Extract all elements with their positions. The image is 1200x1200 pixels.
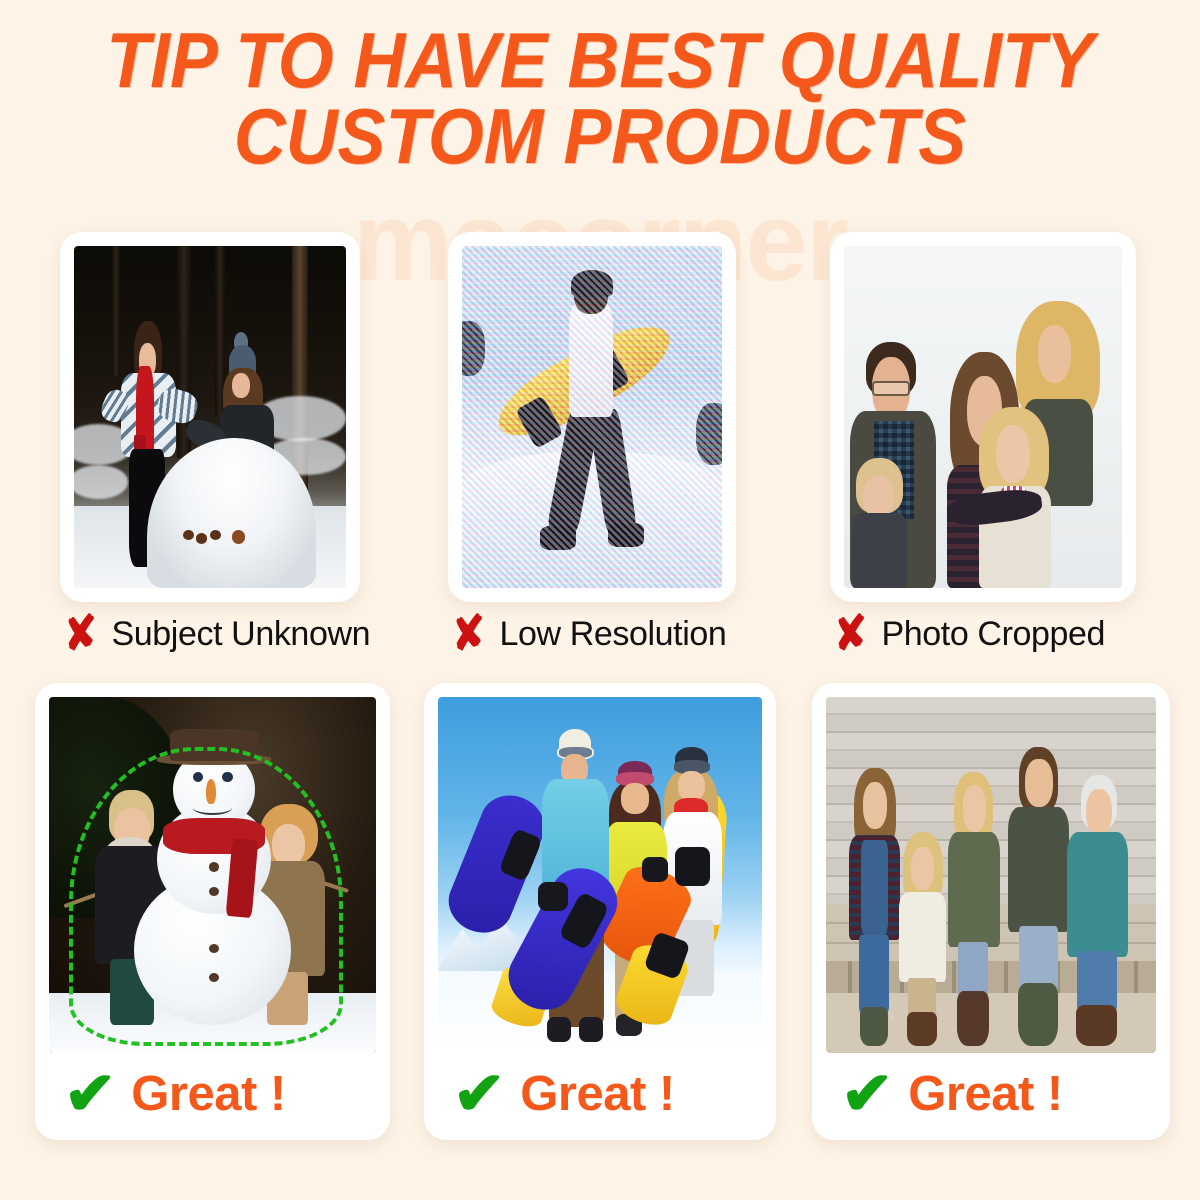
example-subject-unknown: ✘ Subject Unknown bbox=[60, 232, 370, 654]
photo-subject-unknown bbox=[74, 246, 346, 588]
great-row: ✔ Great ! bbox=[826, 1053, 1156, 1134]
caption-label: Subject Unknown bbox=[112, 615, 371, 654]
check-mark-icon: ✔ bbox=[841, 1070, 894, 1118]
check-mark-icon: ✔ bbox=[453, 1070, 506, 1118]
example-great-family: ✔ Great ! bbox=[812, 683, 1170, 1140]
great-label: Great ! bbox=[908, 1066, 1062, 1122]
caption-subject-unknown: ✘ Subject Unknown bbox=[60, 614, 370, 654]
caption-label: Low Resolution bbox=[500, 615, 727, 654]
card-low-resolution[interactable] bbox=[448, 232, 736, 602]
example-great-snowman: ✔ Great ! bbox=[35, 683, 390, 1140]
check-mark-icon: ✔ bbox=[64, 1070, 117, 1118]
photo-snowman-outlined bbox=[49, 697, 376, 1053]
great-row: ✔ Great ! bbox=[438, 1053, 762, 1134]
photo-snowboarders bbox=[438, 697, 762, 1053]
card-great-snowman[interactable]: ✔ Great ! bbox=[35, 683, 390, 1140]
page-title-line-1: TIP TO HAVE BEST QUALITY bbox=[106, 16, 1093, 104]
caption-low-resolution: ✘ Low Resolution bbox=[448, 614, 748, 654]
great-label: Great ! bbox=[520, 1066, 674, 1122]
x-mark-icon: ✘ bbox=[61, 609, 101, 658]
example-great-snowboarders: ✔ Great ! bbox=[424, 683, 776, 1140]
caption-label: Photo Cropped bbox=[882, 615, 1106, 654]
caption-photo-cropped: ✘ Photo Cropped bbox=[830, 614, 1136, 654]
example-low-resolution: ✘ Low Resolution bbox=[448, 232, 748, 654]
card-photo-cropped[interactable] bbox=[830, 232, 1136, 602]
x-mark-icon: ✘ bbox=[831, 609, 871, 658]
photo-low-resolution bbox=[462, 246, 722, 588]
card-subject-unknown[interactable] bbox=[60, 232, 360, 602]
card-great-snowboarders[interactable]: ✔ Great ! bbox=[424, 683, 776, 1140]
great-label: Great ! bbox=[131, 1066, 285, 1122]
x-mark-icon: ✘ bbox=[449, 609, 489, 658]
page-title-line-2: CUSTOM PRODUCTS bbox=[48, 98, 1152, 174]
photo-cropped bbox=[844, 246, 1122, 588]
example-photo-cropped: ✘ Photo Cropped bbox=[830, 232, 1136, 654]
examples-grid: ✘ Subject Unknown bbox=[0, 225, 1200, 1185]
great-row: ✔ Great ! bbox=[49, 1053, 376, 1134]
card-great-family[interactable]: ✔ Great ! bbox=[812, 683, 1170, 1140]
photo-family-wall bbox=[826, 697, 1156, 1053]
page-title: TIP TO HAVE BEST QUALITY CUSTOM PRODUCTS bbox=[48, 22, 1152, 175]
